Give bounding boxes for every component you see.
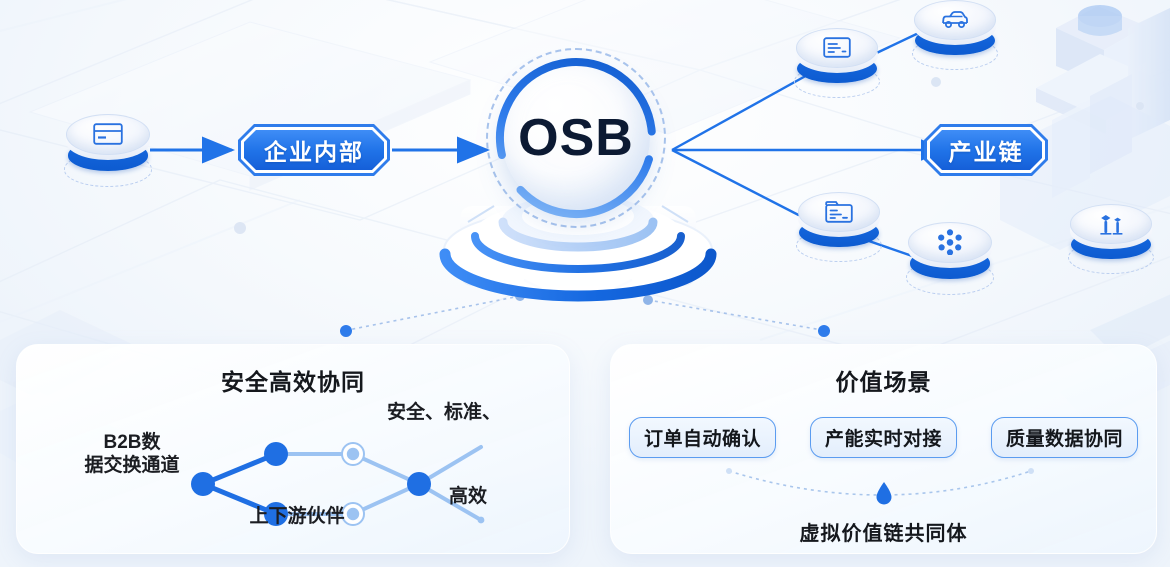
node-tip-bottom	[478, 517, 485, 524]
branch-doc-top[interactable]	[794, 28, 880, 92]
tag-industry-chain[interactable]: 产业链	[924, 124, 1048, 176]
bottom-cards: 安全高效协同	[0, 344, 1170, 567]
label-virtual-value-chain: 虚拟价值链共同体	[611, 517, 1156, 546]
tag-label: 企业内部	[244, 130, 384, 170]
tag-order-auto-confirm[interactable]: 订单自动确认	[629, 417, 776, 458]
tag-capacity-realtime[interactable]: 产能实时对接	[810, 417, 957, 458]
osb-label: OSB	[486, 48, 666, 228]
card-value-scenarios: 价值场景 订单自动确认 产能实时对接 质量数据协同 虚拟价值链共同体	[610, 344, 1157, 554]
flow-diagram: 企业内部	[0, 0, 1170, 350]
cluster-dots-icon	[906, 223, 994, 261]
branch-factory[interactable]	[1068, 204, 1154, 268]
document-lines-icon	[794, 29, 880, 66]
label-partners: 上下游伙伴	[217, 505, 377, 528]
branch-car[interactable]	[912, 0, 998, 64]
label-security-standard: 安全、标准、	[387, 401, 557, 424]
label-b2b-channel: B2B数 据交换通道	[67, 431, 197, 477]
value-scenario-tags: 订单自动确认 产能实时对接 质量数据协同	[629, 417, 1138, 458]
tag-label: 产业链	[930, 130, 1042, 170]
water-drop-icon	[875, 481, 893, 505]
label-b2b-line2: 据交换通道	[84, 455, 179, 476]
node-aggregator	[407, 472, 431, 496]
node-partner-top	[264, 442, 288, 466]
card-secure-collaboration: 安全高效协同	[16, 344, 570, 554]
tag-enterprise-internal[interactable]: 企业内部	[238, 124, 390, 176]
disc-source-node[interactable]	[64, 114, 152, 180]
dot-card-left	[340, 325, 352, 337]
dot-card-right	[818, 325, 830, 337]
card-icon	[64, 115, 152, 153]
car-icon	[912, 1, 998, 38]
tag-quality-data-sync[interactable]: 质量数据协同	[991, 417, 1138, 458]
label-b2b-line1: B2B数	[103, 432, 160, 453]
osb-sphere: OSB	[486, 48, 666, 228]
factory-icon	[1068, 205, 1154, 242]
diagram-canvas: 企业内部	[0, 0, 1170, 567]
file-list-icon	[796, 193, 882, 230]
branch-doc-bottom[interactable]	[796, 192, 882, 256]
branch-cluster[interactable]	[906, 222, 994, 288]
node-hollow-top-core	[347, 448, 359, 460]
label-efficiency: 高效	[449, 485, 539, 508]
card-right-title: 价值场景	[611, 363, 1156, 397]
card-left-title: 安全高效协同	[17, 363, 569, 397]
